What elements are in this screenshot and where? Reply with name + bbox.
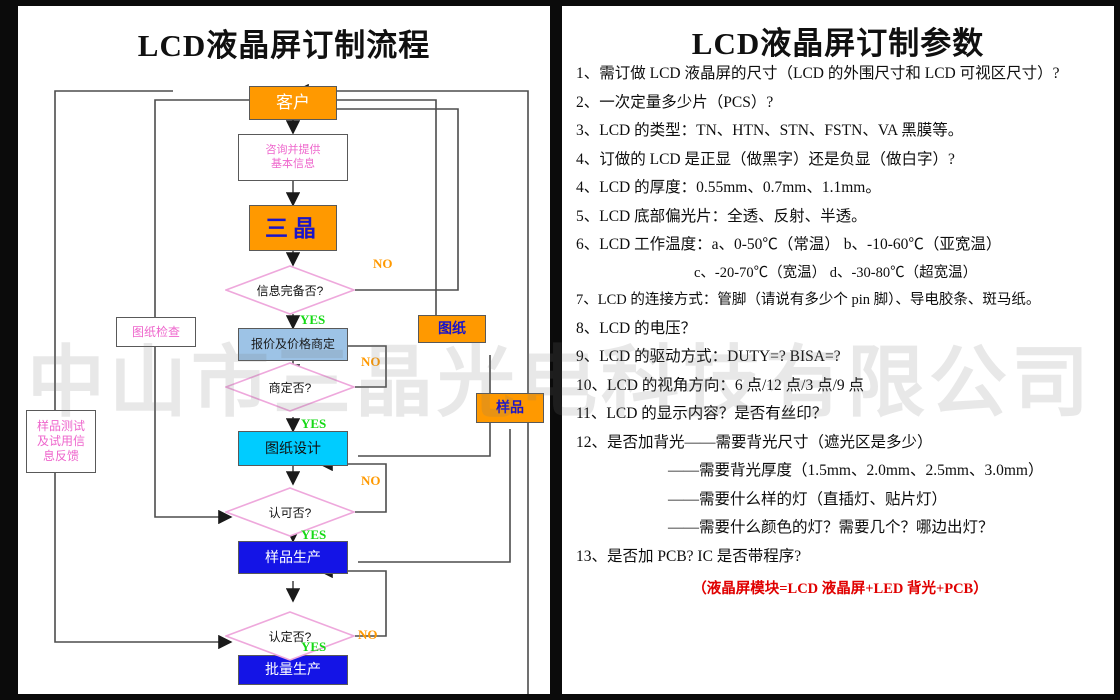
edge-label-yes-approved: YES: [301, 527, 326, 543]
list-item: 4、LCD 的厚度：0.55mm、0.7mm、1.1mm。: [576, 180, 1104, 196]
list-item-sub: ——需要什么样的灯（直插灯、贴片灯）: [576, 492, 1104, 508]
list-item-sub: ——需要什么颜色的灯？需要几个？哪边出灯？: [576, 520, 1104, 536]
node-drawing-design[interactable]: 图纸设计: [238, 431, 348, 466]
flowchart-canvas: 客户 咨询并提供 基本信息 三晶 报价及价格商定 图纸设计 样品生产 批量生产: [18, 6, 550, 694]
node-quote-price[interactable]: 报价及价格商定: [238, 328, 348, 361]
edge-label-yes-agreed: YES: [301, 416, 326, 432]
parameters-list: 1、需订做 LCD 液晶屏的尺寸（LCD 的外围尺寸和 LCD 可视区尺寸）? …: [576, 66, 1104, 598]
list-item: 11、LCD 的显示内容？是否有丝印？: [576, 406, 1104, 422]
list-item: 9、LCD 的驱动方式：DUTY=? BISA=?: [576, 349, 1104, 365]
parameters-panel: LCD液晶屏订制参数 1、需订做 LCD 液晶屏的尺寸（LCD 的外围尺寸和 L…: [562, 6, 1114, 694]
decision-confirmed[interactable]: 认定否?: [225, 611, 355, 661]
node-drawing-check-label: 图纸检查: [132, 325, 180, 340]
node-quote-price-label: 报价及价格商定: [251, 337, 335, 352]
list-item: 4、订做的 LCD 是正显（做黑字）还是负显（做白字）?: [576, 152, 1104, 168]
node-sample-label: 样品: [496, 399, 524, 417]
list-item: 13、是否加 PCB? IC 是否带程序?: [576, 549, 1104, 565]
screenshot-root: LCD液晶屏订制流程: [0, 0, 1120, 700]
list-item: 8、LCD 的电压？: [576, 321, 1104, 337]
node-sample-test-feedback[interactable]: 样品测试 及试用信 息反馈: [26, 410, 96, 473]
node-drawing-design-label: 图纸设计: [265, 440, 321, 458]
flowchart-panel: LCD液晶屏订制流程: [18, 6, 550, 694]
parameters-title: LCD液晶屏订制参数: [562, 18, 1114, 63]
node-sample[interactable]: 样品: [476, 393, 544, 423]
node-sample-test-feedback-label: 样品测试 及试用信 息反馈: [37, 419, 85, 464]
parameters-footer-note: （液晶屏模块=LCD 液晶屏+LED 背光+PCB）: [576, 577, 1104, 598]
decision-agreed[interactable]: 商定否?: [225, 362, 355, 412]
node-drawing[interactable]: 图纸: [418, 315, 486, 343]
node-sanjing-label: 三晶: [265, 214, 321, 243]
node-sanjing[interactable]: 三晶: [249, 205, 337, 251]
decision-info-complete[interactable]: 信息完备否?: [225, 265, 355, 315]
node-consult-info-label: 咨询并提供 基本信息: [266, 144, 321, 172]
node-mass-production-label: 批量生产: [265, 661, 321, 679]
decision-approved-label: 认可否?: [225, 487, 355, 537]
edge-label-no-approved: NO: [361, 473, 381, 489]
decision-info-complete-label: 信息完备否?: [225, 265, 355, 315]
node-drawing-label: 图纸: [438, 320, 466, 338]
list-item: 6、LCD 工作温度：a、0-50℃（常温） b、-10-60℃（亚宽温）: [576, 237, 1104, 253]
decision-approved[interactable]: 认可否?: [225, 487, 355, 537]
list-item: 3、LCD 的类型：TN、HTN、STN、FSTN、VA 黑膜等。: [576, 123, 1104, 139]
edge-label-yes-confirmed: YES: [301, 639, 326, 655]
decision-agreed-label: 商定否?: [225, 362, 355, 412]
node-consult-info[interactable]: 咨询并提供 基本信息: [238, 134, 348, 181]
list-item: 1、需订做 LCD 液晶屏的尺寸（LCD 的外围尺寸和 LCD 可视区尺寸）?: [576, 66, 1104, 82]
list-item: 12、是否加背光——需要背光尺寸（遮光区是多少）: [576, 435, 1104, 451]
node-sample-production-label: 样品生产: [265, 549, 321, 567]
decision-confirmed-label: 认定否?: [225, 611, 355, 661]
edge-label-no-info-complete: NO: [373, 256, 393, 272]
edge-label-yes-info-complete: YES: [300, 312, 325, 328]
node-customer-label: 客户: [276, 92, 310, 113]
edge-label-no-agreed: NO: [361, 354, 381, 370]
node-sample-production[interactable]: 样品生产: [238, 541, 348, 574]
node-customer[interactable]: 客户: [249, 86, 337, 120]
list-item-sub: ——需要背光厚度（1.5mm、2.0mm、2.5mm、3.0mm）: [576, 463, 1104, 479]
list-item-sub: c、-20-70℃（宽温） d、-30-80℃（超宽温）: [576, 266, 1104, 281]
node-drawing-check[interactable]: 图纸检查: [116, 317, 196, 347]
edge-label-no-confirmed: NO: [358, 627, 378, 643]
list-item: 5、LCD 底部偏光片：全透、反射、半透。: [576, 209, 1104, 225]
list-item: 10、LCD 的视角方向：6 点/12 点/3 点/9 点: [576, 378, 1104, 394]
list-item: 7、LCD 的连接方式：管脚（请说有多少个 pin 脚）、导电胶条、斑马纸。: [576, 293, 1104, 308]
list-item: 2、一次定量多少片（PCS）?: [576, 95, 1104, 111]
